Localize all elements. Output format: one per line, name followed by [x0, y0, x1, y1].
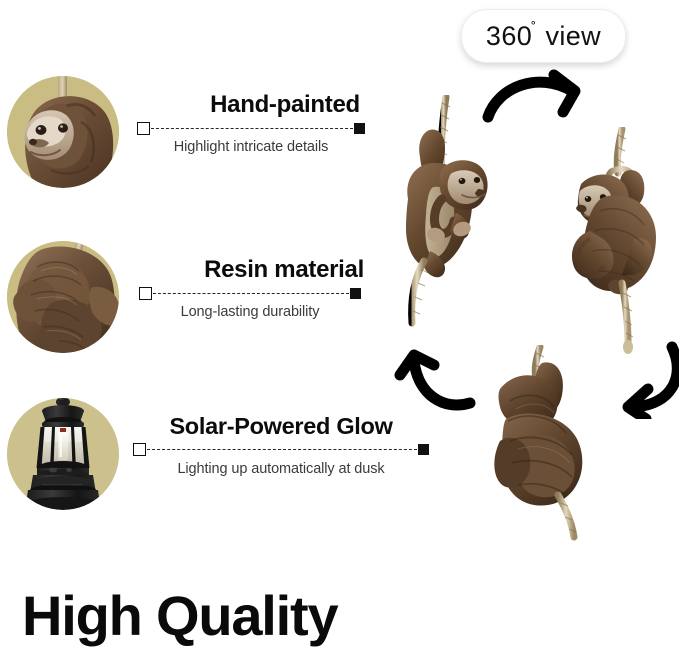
connector-start-marker-icon [139, 287, 152, 300]
feature-connector [137, 121, 365, 135]
feature-row-solar-powered-glow: Solar-Powered Glow Lighting up automatic… [0, 398, 440, 518]
feature-subtitle: Highlight intricate details [137, 139, 365, 155]
connector-dashed-line [147, 449, 417, 450]
sloth-head-closeup-photo [7, 76, 119, 188]
thumbnail-sloth-head [7, 76, 119, 188]
thumbnail-solar-lantern [7, 398, 119, 510]
page-headline: High Quality [22, 588, 337, 644]
connector-start-marker-icon [137, 122, 150, 135]
degree-icon: ˚ [531, 20, 536, 37]
product-view-back-center [484, 345, 612, 541]
connector-dashed-line [153, 293, 349, 294]
connector-start-marker-icon [133, 443, 146, 456]
product-view-front-right [560, 127, 676, 357]
product-360-showcase [380, 55, 679, 545]
solar-lantern-photo [7, 398, 119, 510]
connector-end-marker-icon [354, 123, 365, 134]
badge-view-word: view [545, 21, 601, 51]
connector-end-marker-icon [350, 288, 361, 299]
badge-number: 360 [486, 21, 532, 51]
feature-row-hand-painted: Hand-painted Highlight intricate details [0, 76, 440, 196]
connector-dashed-line [151, 128, 353, 129]
feature-subtitle: Long-lasting durability [139, 304, 361, 320]
arrow-left-icon [394, 333, 484, 417]
badge-360-label: 360˚ view [486, 21, 601, 52]
product-view-front-left [390, 95, 522, 327]
thumbnail-sloth-body [7, 241, 119, 353]
feature-row-resin-material: Resin material Long-lasting durability [0, 241, 440, 361]
feature-connector [139, 286, 361, 300]
sloth-body-texture-photo [7, 241, 119, 353]
